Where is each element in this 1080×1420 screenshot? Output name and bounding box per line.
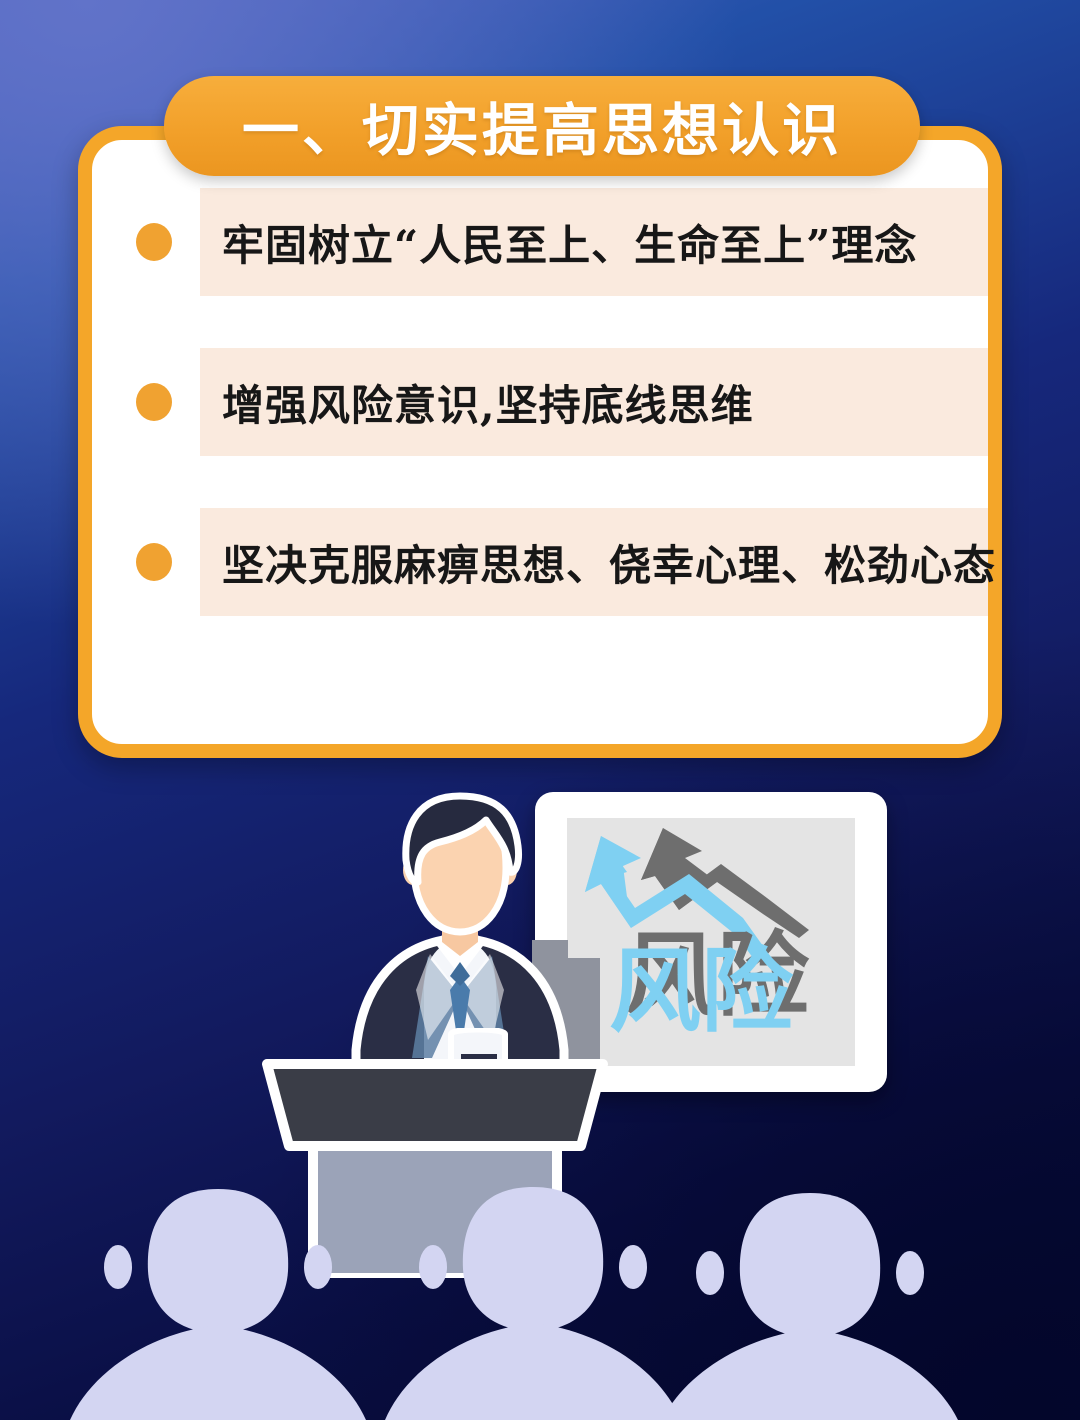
bullet-dot-icon [136, 223, 172, 261]
bullet-band: 牢固树立“人民至上、生命至上”理念 [200, 188, 988, 296]
bullet-text: 坚决克服麻痹思想、侥幸心理、松劲心态 [200, 532, 996, 593]
board-word-risk: 风险 [609, 946, 793, 1038]
list-item: 增强风险意识,坚持底线思维 [106, 348, 988, 456]
audience-silhouettes [0, 1175, 1080, 1420]
audience-person [385, 1187, 681, 1420]
bullet-dot-icon [136, 383, 172, 421]
page-title: 一、切实提高思想认识 [242, 85, 842, 167]
poster-root: 牢固树立“人民至上、生命至上”理念 增强风险意识,坚持底线思维 坚决克服麻痹思想… [0, 0, 1080, 1420]
audience-person [70, 1189, 366, 1420]
section-title-banner: 一、切实提高思想认识 [164, 76, 920, 176]
illustration-scene: 风险 风险 [0, 760, 1080, 1420]
bullet-text: 牢固树立“人民至上、生命至上”理念 [200, 212, 917, 273]
bullet-band: 坚决克服麻痹思想、侥幸心理、松劲心态 [200, 508, 988, 616]
bullet-list: 牢固树立“人民至上、生命至上”理念 增强风险意识,坚持底线思维 坚决克服麻痹思想… [106, 188, 988, 616]
bullet-dot-icon [136, 543, 172, 581]
content-card: 牢固树立“人民至上、生命至上”理念 增强风险意识,坚持底线思维 坚决克服麻痹思想… [78, 126, 1002, 758]
list-item: 牢固树立“人民至上、生命至上”理念 [106, 188, 988, 296]
audience-person [662, 1193, 958, 1420]
bullet-band: 增强风险意识,坚持底线思维 [200, 348, 988, 456]
bullet-text: 增强风险意识,坚持底线思维 [200, 372, 754, 433]
list-item: 坚决克服麻痹思想、侥幸心理、松劲心态 [106, 508, 988, 616]
